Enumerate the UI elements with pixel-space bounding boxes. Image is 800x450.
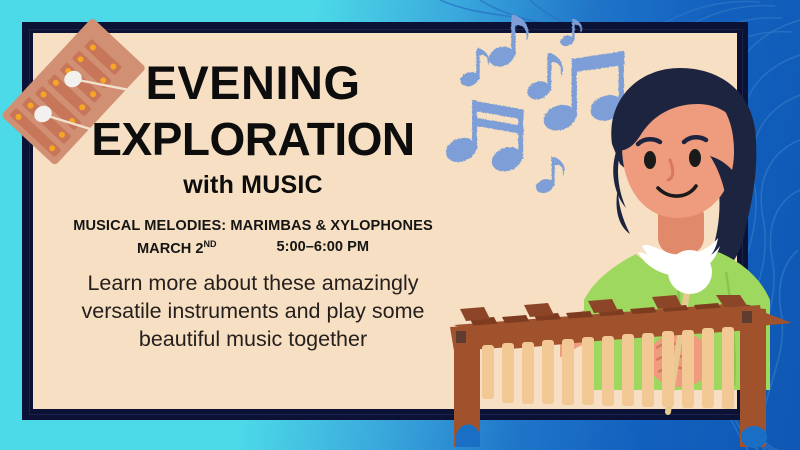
body-text: Learn more about these amazingly versati… — [33, 269, 473, 353]
title-line-2: EXPLORATION — [33, 113, 473, 165]
event-poster: EVENING EXPLORATION with MUSIC MUSICAL M… — [0, 0, 800, 450]
program-line: MUSICAL MELODIES: MARIMBAS & XYLOPHONES — [33, 218, 473, 234]
marimba-illustration — [440, 285, 800, 450]
poster-text-block: EVENING EXPLORATION with MUSIC MUSICAL M… — [33, 33, 473, 409]
event-date: MARCH 2ND — [137, 239, 216, 257]
date-time-row: MARCH 2ND 5:00–6:00 PM — [33, 239, 473, 257]
page-title: EVENING EXPLORATION — [33, 57, 473, 165]
title-line-1: EVENING — [33, 57, 473, 109]
subtitle: with MUSIC — [33, 171, 473, 200]
date-ordinal-suffix: ND — [204, 239, 217, 249]
event-time: 5:00–6:00 PM — [277, 239, 369, 257]
